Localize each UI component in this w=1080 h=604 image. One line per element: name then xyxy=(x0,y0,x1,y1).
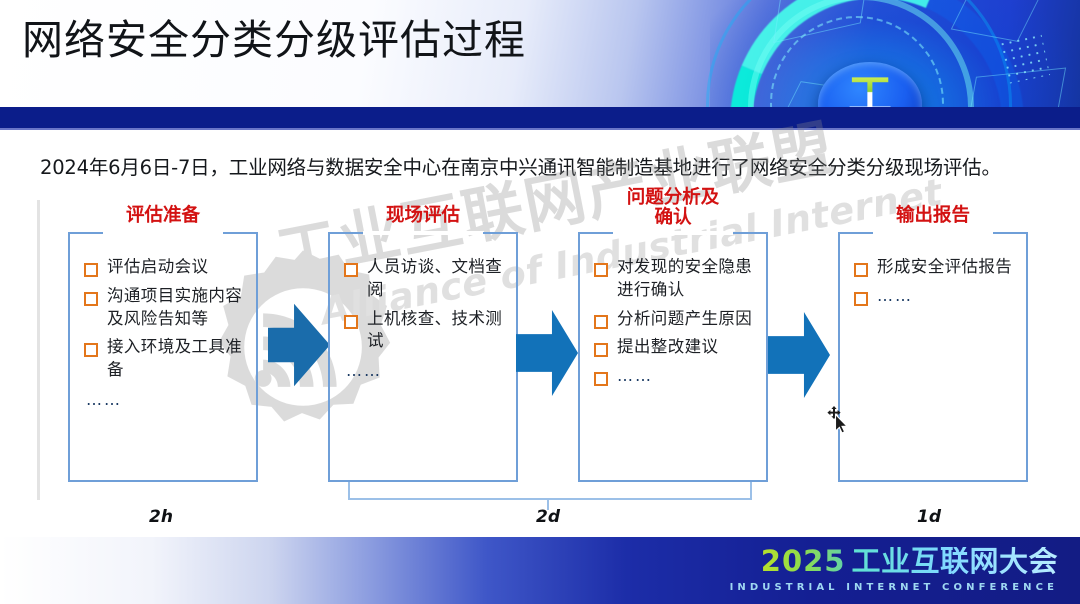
process-step-4-items: 形成安全评估报告 …… xyxy=(850,256,1018,313)
conference-logo-en: INDUSTRIAL INTERNET CONFERENCE xyxy=(730,582,1058,593)
list-item: 接入环境及工具准备 xyxy=(80,336,248,382)
process-step-3-title-line-1: 问题分析及 xyxy=(580,188,766,208)
list-item-label: 人员访谈、文档查阅 xyxy=(367,256,508,302)
list-item: …… xyxy=(590,365,758,387)
process-step-1-items: 评估启动会议 沟通项目实施内容及风险告知等 接入环境及工具准备 …… xyxy=(80,256,248,409)
list-item: …… xyxy=(850,285,1018,307)
header-navy-rule xyxy=(0,107,1080,128)
square-bullet-icon xyxy=(84,263,98,277)
conference-logo-cn: 工业互联网大会 xyxy=(851,547,1058,576)
header-dot-grid xyxy=(998,32,1050,84)
diagram-left-rule xyxy=(37,200,40,500)
process-step-3-title-notch xyxy=(613,231,732,235)
duration-label-1: 2h xyxy=(118,507,204,527)
duration-brace-2d xyxy=(348,482,752,500)
list-item: 人员访谈、文档查阅 xyxy=(340,256,508,302)
list-item-label: 接入环境及工具准备 xyxy=(107,336,248,382)
list-item-label: 分析问题产生原因 xyxy=(617,308,752,331)
square-bullet-icon xyxy=(84,292,98,306)
square-bullet-icon xyxy=(594,263,608,277)
process-step-4-title-notch xyxy=(873,231,992,235)
process-step-4-title: 输出报告 xyxy=(840,206,1026,226)
square-bullet-icon xyxy=(854,263,868,277)
process-step-4-ellipsis: …… xyxy=(877,285,913,307)
square-bullet-icon xyxy=(854,292,868,306)
list-item: 上机核查、技术测试 xyxy=(340,308,508,354)
list-item-label: 对发现的安全隐患进行确认 xyxy=(617,256,758,302)
process-step-3[interactable]: 问题分析及 确认 对发现的安全隐患进行确认 分析问题产生原因 提出整改建议 …… xyxy=(578,232,768,482)
process-step-4[interactable]: 输出报告 形成安全评估报告 …… xyxy=(838,232,1028,482)
arrow-right-icon xyxy=(516,310,578,396)
square-bullet-icon xyxy=(594,343,608,357)
process-step-2-items: 人员访谈、文档查阅 上机核查、技术测试 …… xyxy=(340,256,508,380)
process-arrow-1 xyxy=(268,302,330,388)
process-arrow-2 xyxy=(516,310,578,396)
slide-header-band: 工 网络安全分类分级评估过程 xyxy=(0,0,1080,107)
process-step-2-title: 现场评估 xyxy=(330,206,516,226)
process-step-1-title-notch xyxy=(103,231,222,235)
square-bullet-icon xyxy=(344,263,358,277)
list-item: 评估启动会议 xyxy=(80,256,248,279)
slide-subtitle: 2024年6月6日-7日，工业网络与数据安全中心在南京中兴通讯智能制造基地进行了… xyxy=(40,151,1050,180)
list-item: 分析问题产生原因 xyxy=(590,308,758,331)
duration-label-3: 1d xyxy=(886,507,972,527)
arrow-right-icon xyxy=(768,312,830,398)
process-step-3-items: 对发现的安全隐患进行确认 分析问题产生原因 提出整改建议 …… xyxy=(590,256,758,393)
process-step-1-ellipsis: …… xyxy=(86,390,248,409)
process-step-3-ellipsis: …… xyxy=(617,365,653,387)
conference-logo-year: 2025 xyxy=(761,547,846,576)
process-step-1-title: 评估准备 xyxy=(70,206,256,226)
list-item-label: 上机核查、技术测试 xyxy=(367,308,508,354)
list-item-label: 评估启动会议 xyxy=(107,256,208,279)
duration-label-2: 2d xyxy=(505,507,591,527)
list-item: 沟通项目实施内容及风险告知等 xyxy=(80,285,248,331)
list-item: 提出整改建议 xyxy=(590,336,758,359)
arrow-right-icon xyxy=(268,302,330,388)
slide-footer-band: 2025 工业互联网大会 INDUSTRIAL INTERNET CONFERE… xyxy=(0,537,1080,604)
square-bullet-icon xyxy=(344,315,358,329)
process-step-1[interactable]: 评估准备 评估启动会议 沟通项目实施内容及风险告知等 接入环境及工具准备 …… xyxy=(68,232,258,482)
list-item-label: 形成安全评估报告 xyxy=(877,256,1012,279)
page-title: 网络安全分类分级评估过程 xyxy=(22,20,722,61)
process-step-2-ellipsis: …… xyxy=(346,361,508,380)
square-bullet-icon xyxy=(594,372,608,386)
conference-logo-row: 2025 工业互联网大会 xyxy=(730,547,1058,576)
list-item-label: 提出整改建议 xyxy=(617,336,718,359)
conference-logo: 2025 工业互联网大会 INDUSTRIAL INTERNET CONFERE… xyxy=(730,547,1058,593)
slide-canvas: 工 网络安全分类分级评估过程 2024年6月6日-7日，工业网络与数据安全中心在… xyxy=(0,0,1080,604)
process-step-3-title-line-2: 确认 xyxy=(580,208,766,228)
move-cursor xyxy=(826,404,852,434)
list-item: 形成安全评估报告 xyxy=(850,256,1018,279)
process-arrow-3 xyxy=(768,312,830,398)
square-bullet-icon xyxy=(84,343,98,357)
process-step-2[interactable]: 现场评估 人员访谈、文档查阅 上机核查、技术测试 …… xyxy=(328,232,518,482)
process-step-2-title-notch xyxy=(363,231,482,235)
square-bullet-icon xyxy=(594,315,608,329)
list-item-label: 沟通项目实施内容及风险告知等 xyxy=(107,285,248,331)
header-gong-logo-glyph: 工 xyxy=(848,74,891,107)
list-item: 对发现的安全隐患进行确认 xyxy=(590,256,758,302)
process-step-3-title: 问题分析及 确认 xyxy=(580,188,766,228)
